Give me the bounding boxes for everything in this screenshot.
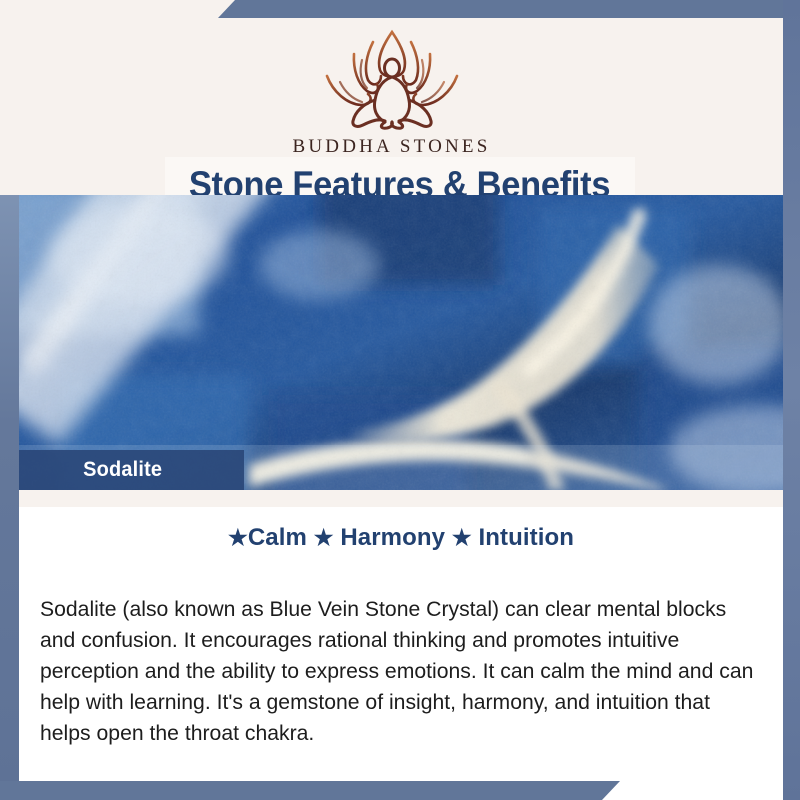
brand-logo: BUDDHA STONES (0, 26, 783, 158)
header-top-fill (0, 0, 236, 18)
body-top-tint (19, 490, 783, 507)
decor-left-strip (0, 192, 19, 800)
keyword-calm: Calm (248, 524, 307, 551)
decor-top-band (218, 0, 800, 18)
stone-photo (19, 195, 783, 490)
stone-name: Sodalite (83, 458, 162, 482)
sodalite-texture-image (19, 195, 783, 490)
decor-right-strip (783, 0, 800, 800)
header-section: BUDDHA STONES Stone Features & Benefits (0, 18, 783, 195)
lotus-meditation-figure-icon (307, 26, 477, 134)
stone-description: Sodalite (also known as Blue Vein Stone … (40, 594, 755, 749)
keyword-list: ★Calm ★ Harmony ★ Intuition (19, 524, 783, 552)
star-icon-3: ★ (452, 525, 472, 550)
stone-name-bar: Sodalite (19, 450, 244, 490)
keyword-intuition: Intuition (478, 524, 574, 551)
keyword-harmony: Harmony (340, 524, 445, 551)
decor-bottom-band (0, 781, 620, 800)
brand-name: BUDDHA STONES (0, 136, 783, 158)
infographic-page: BUDDHA STONES Stone Features & Benefits (0, 0, 800, 800)
star-icon-1: ★ (228, 525, 248, 550)
star-icon-2: ★ (314, 525, 334, 550)
body-section: ★Calm ★ Harmony ★ Intuition Sodalite (al… (19, 490, 783, 781)
